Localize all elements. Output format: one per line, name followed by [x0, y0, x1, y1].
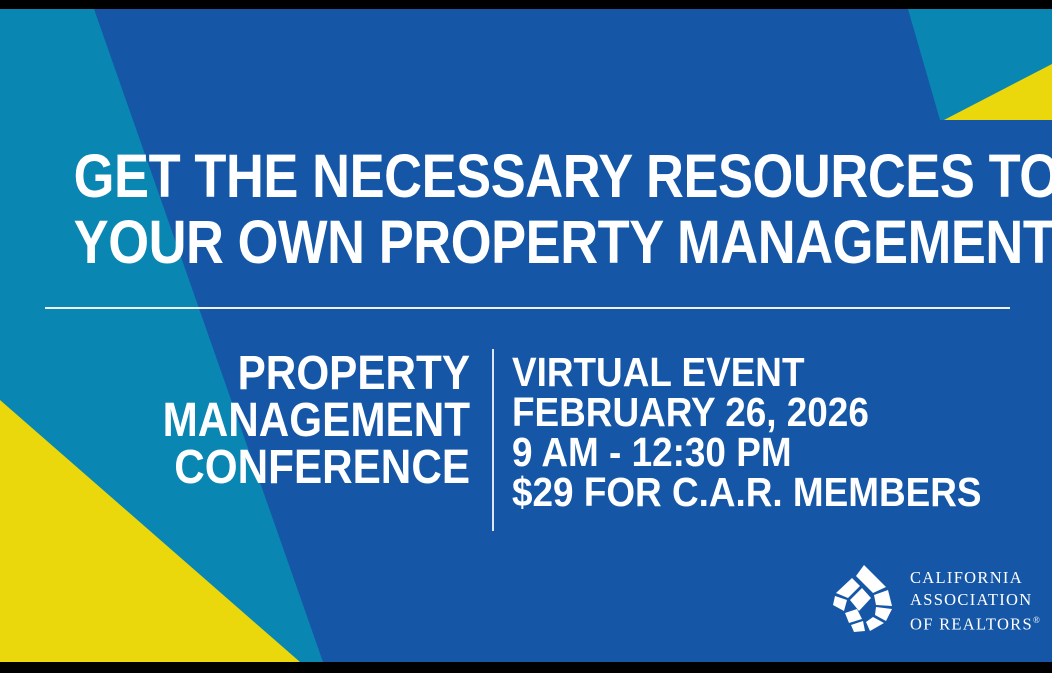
event-price: $29 FOR C.A.R. MEMBERS	[512, 472, 908, 512]
page-title: GET THE NECESSARY RESOURCES TO SUPPORT Y…	[74, 143, 979, 275]
registered-mark-icon: ®	[1033, 615, 1040, 625]
event-details: VIRTUAL EVENT FEBRUARY 26, 2026 9 AM - 1…	[512, 352, 908, 512]
logo-line-3-wrap: OF REALTORS®	[910, 610, 1040, 635]
headline-line-2: YOUR OWN PROPERTY MANAGEMENT BUSINESS	[74, 209, 979, 275]
car-logo: CALIFORNIA ASSOCIATION OF REALTORS®	[826, 555, 1026, 643]
promo-banner: GET THE NECESSARY RESOURCES TO SUPPORT Y…	[0, 0, 1052, 673]
logo-line-1: CALIFORNIA	[910, 567, 1040, 589]
horizontal-divider	[45, 307, 1010, 309]
vertical-divider	[492, 349, 494, 531]
event-title-line-2: MANAGEMENT	[162, 397, 470, 444]
logo-line-2: ASSOCIATION	[910, 589, 1040, 611]
event-title: PROPERTY MANAGEMENT CONFERENCE	[162, 350, 470, 491]
event-date: FEBRUARY 26, 2026	[512, 392, 908, 432]
event-title-line-3: CONFERENCE	[162, 444, 470, 491]
event-title-line-1: PROPERTY	[162, 350, 470, 397]
headline-line-1: GET THE NECESSARY RESOURCES TO SUPPORT	[74, 143, 979, 209]
car-logo-text: CALIFORNIA ASSOCIATION OF REALTORS®	[910, 567, 1040, 635]
event-format: VIRTUAL EVENT	[512, 352, 908, 392]
logo-line-3: OF REALTORS	[910, 615, 1033, 634]
event-time: 9 AM - 12:30 PM	[512, 432, 908, 472]
car-bear-diamond-icon	[826, 559, 904, 639]
